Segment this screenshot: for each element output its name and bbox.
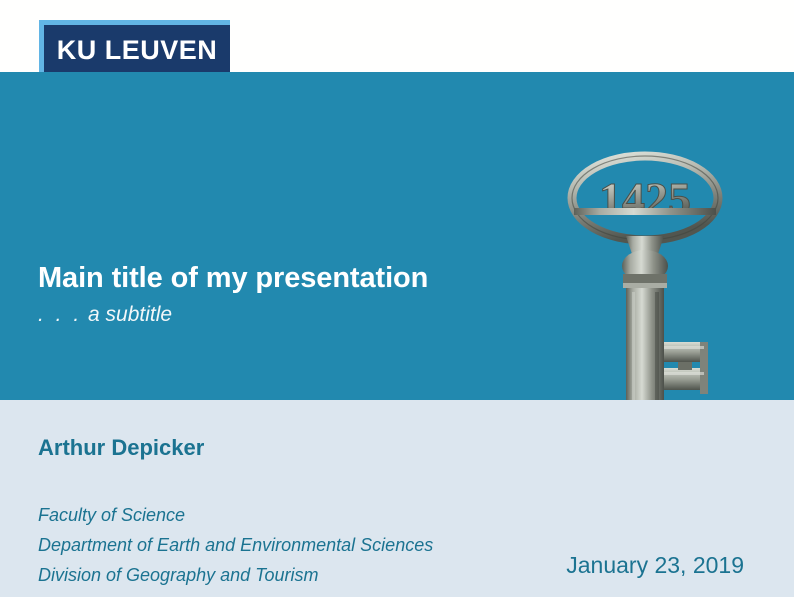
page-subtitle: . . . a subtitle bbox=[38, 302, 558, 327]
affiliation-line-3: Division of Geography and Tourism bbox=[38, 560, 433, 590]
author-footer: Arthur Depicker Faculty of Science Depar… bbox=[0, 400, 794, 597]
page-title: Main title of my presentation bbox=[38, 262, 558, 295]
title-block: Main title of my presentation . . . a su… bbox=[38, 262, 558, 328]
affiliation-block: Faculty of Science Department of Earth a… bbox=[38, 500, 433, 591]
logo-strip: KU LEUVEN bbox=[0, 0, 794, 72]
title-banner: Main title of my presentation . . . a su… bbox=[0, 72, 794, 400]
affiliation-line-1: Faculty of Science bbox=[38, 500, 433, 530]
logo-inner-block: KU LEUVEN bbox=[44, 25, 230, 77]
subtitle-text: a subtitle bbox=[82, 303, 172, 326]
affiliation-line-2: Department of Earth and Environmental Sc… bbox=[38, 530, 433, 560]
logo-text: KU LEUVEN bbox=[57, 37, 218, 66]
presentation-date: January 23, 2019 bbox=[566, 553, 744, 578]
key-engraving: 1425 bbox=[599, 173, 691, 224]
author-name: Arthur Depicker bbox=[38, 436, 204, 460]
presentation-title-slide: KU LEUVEN Main title of my presentation … bbox=[0, 0, 794, 597]
ku-leuven-logo: KU LEUVEN bbox=[39, 20, 230, 77]
ellipsis-glyph: . . . bbox=[38, 303, 82, 326]
